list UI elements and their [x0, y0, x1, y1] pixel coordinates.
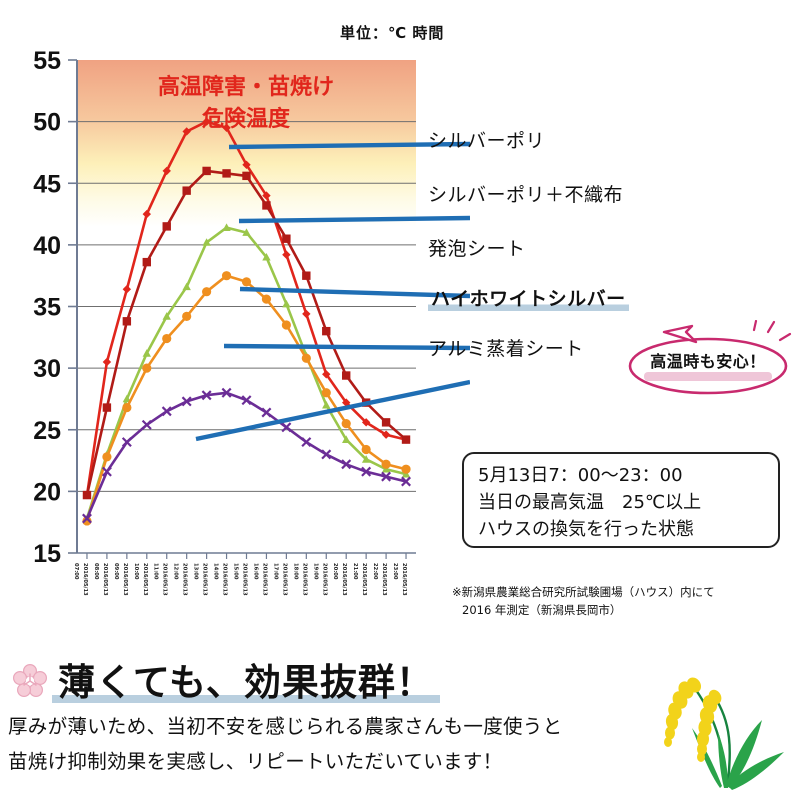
x-axis-tick-label: 2016/05/1309:00 — [113, 563, 128, 596]
x-axis-tick-label: 2016/05/1313:00 — [193, 563, 208, 596]
x-axis-tick-label: 2016/05/1320:00 — [332, 563, 347, 596]
info-line-3: ハウスの換気を行った状態 — [478, 516, 778, 543]
svg-text:14:00: 14:00 — [213, 563, 219, 580]
info-line-2: 当日の最高気温 25℃以上 — [478, 489, 778, 516]
reassurance-speech-bubble: 高温時も安心！ — [628, 330, 788, 390]
svg-text:10:00: 10:00 — [133, 563, 139, 580]
info-line-1: 5月13日7：00〜23：00 — [478, 462, 778, 489]
legend-item-silver-poly-nonwoven[interactable]: シルバーポリ＋不織布 — [428, 180, 623, 207]
x-axis-tick-label: 2016/05/1310:00 — [133, 563, 148, 596]
y-axis-tick-label: 55 — [33, 48, 61, 75]
y-axis-tick-label: 20 — [33, 478, 61, 506]
svg-text:2016/05/13: 2016/05/13 — [142, 563, 148, 596]
x-axis-ticks: 2016/05/1307:002016/05/1308:002016/05/13… — [73, 553, 407, 596]
y-axis-tick-label: 50 — [33, 109, 61, 137]
svg-text:2016/05/13: 2016/05/13 — [222, 563, 228, 596]
svg-text:23:00: 23:00 — [392, 563, 398, 580]
y-axis-tick-label: 45 — [33, 170, 61, 198]
x-axis-tick-label: 2016/05/1308:00 — [93, 563, 108, 596]
svg-text:18:00: 18:00 — [292, 563, 298, 580]
legend-label-highlighted: ハイホワイトシルバー — [428, 284, 629, 311]
speech-bubble-text: 高温時も安心！ — [628, 330, 788, 390]
x-axis-tick-label: 2016/05/1311:00 — [153, 563, 168, 596]
svg-text:2016/05/13: 2016/05/13 — [102, 563, 108, 596]
svg-text:17:00: 17:00 — [272, 563, 278, 580]
rice-plant-illustration — [648, 660, 794, 796]
leader-line-1 — [239, 218, 470, 221]
y-axis-tick-label: 15 — [33, 540, 61, 568]
svg-text:2016/05/13: 2016/05/13 — [182, 563, 188, 596]
promo-headline: 薄くても、効果抜群！ — [52, 652, 440, 706]
y-axis-labels: 555045403530252015 — [33, 48, 61, 568]
svg-text:11:00: 11:00 — [153, 563, 159, 580]
svg-text:2016/05/13: 2016/05/13 — [162, 563, 168, 596]
svg-text:2016/05/13: 2016/05/13 — [341, 563, 347, 596]
svg-text:2016/05/13: 2016/05/13 — [301, 563, 307, 596]
svg-text:2016/05/13: 2016/05/13 — [202, 563, 208, 596]
x-axis-tick-label: 2016/05/1316:00 — [252, 563, 267, 596]
legend-label: アルミ蒸着シート — [428, 334, 584, 361]
svg-text:21:00: 21:00 — [352, 563, 358, 580]
svg-text:13:00: 13:00 — [193, 563, 199, 580]
legend-item-silver-poly[interactable]: シルバーポリ — [428, 126, 545, 153]
measurement-info-box: 5月13日7：00〜23：00 当日の最高気温 25℃以上 ハウスの換気を行った… — [462, 452, 780, 548]
source-note-line1: ※新潟県農業総合研究所試験圃場（ハウス）内にて — [452, 585, 715, 599]
promo-body-line1: 厚みが薄いため、当初不安を感じられる農家さんも一度使うと — [8, 710, 562, 739]
x-axis-tick-label: 2016/05/1318:00 — [292, 563, 307, 596]
legend-item-high-white-silver[interactable]: ハイホワイトシルバー — [428, 284, 629, 311]
y-axis-tick-label: 35 — [33, 294, 61, 322]
x-axis-tick-label: 2016/05/1317:00 — [272, 563, 287, 596]
x-axis-tick-label: 2016/05/1322:00 — [372, 563, 387, 596]
legend-label: 発泡シート — [428, 234, 526, 261]
x-axis-tick-label: 2016/05/1307:00 — [73, 563, 88, 596]
leader-line-4 — [196, 382, 470, 439]
danger-band-line1: 高温障害・苗焼け — [158, 74, 334, 100]
svg-text:2016/05/13: 2016/05/13 — [281, 563, 287, 596]
svg-text:08:00: 08:00 — [93, 563, 99, 580]
bottom-promo-block: 薄くても、効果抜群！ 厚みが薄いため、当初不安を感じられる農家さんも一度使うと … — [0, 648, 800, 800]
y-axis-tick-label: 40 — [33, 232, 61, 260]
svg-text:16:00: 16:00 — [252, 563, 258, 580]
svg-text:2016/05/13: 2016/05/13 — [82, 563, 88, 596]
chart-unit-title: 単位：℃ 時間 — [340, 22, 540, 43]
legend-item-foam-sheet[interactable]: 発泡シート — [428, 234, 526, 261]
svg-text:2016/05/13: 2016/05/13 — [361, 563, 367, 596]
source-note-line2: 2016 年測定（新潟県長岡市） — [452, 601, 800, 619]
source-note: ※新潟県農業総合研究所試験圃場（ハウス）内にて 2016 年測定（新潟県長岡市） — [452, 583, 800, 619]
legend-item-alumi-sheet[interactable]: アルミ蒸着シート — [428, 334, 584, 361]
svg-text:20:00: 20:00 — [332, 563, 338, 580]
svg-text:2016/05/13: 2016/05/13 — [381, 563, 387, 596]
x-axis-tick-label: 2016/05/1321:00 — [352, 563, 367, 596]
svg-text:15:00: 15:00 — [233, 563, 239, 580]
svg-text:22:00: 22:00 — [372, 563, 378, 580]
svg-text:2016/05/13: 2016/05/13 — [242, 563, 248, 596]
svg-text:2016/05/13: 2016/05/13 — [261, 563, 267, 596]
legend-label: シルバーポリ＋不織布 — [428, 180, 623, 207]
y-axis-tick-label: 25 — [33, 417, 61, 445]
x-axis-tick-label: 2016/05/1315:00 — [233, 563, 248, 596]
promo-body-line2: 苗焼け抑制効果を実感し、リピートいただいています！ — [8, 745, 502, 774]
svg-text:09:00: 09:00 — [113, 563, 119, 580]
temperature-line-chart: 555045403530252015 高温障害・苗焼け 危険温度 2016/05… — [0, 48, 470, 638]
legend-label: シルバーポリ — [428, 126, 545, 153]
chart-svg: 555045403530252015 高温障害・苗焼け 危険温度 2016/05… — [0, 48, 470, 638]
svg-text:2016/05/13: 2016/05/13 — [401, 563, 407, 596]
x-axis-tick-label: 2016/05/1323:00 — [392, 563, 407, 596]
x-axis-tick-label: 2016/05/1314:00 — [213, 563, 228, 596]
svg-text:2016/05/13: 2016/05/13 — [321, 563, 327, 596]
svg-text:07:00: 07:00 — [73, 563, 79, 580]
x-axis-tick-label: 2016/05/1312:00 — [173, 563, 188, 596]
x-axis-tick-label: 2016/05/1319:00 — [312, 563, 327, 596]
svg-text:19:00: 19:00 — [312, 563, 318, 580]
cherry-blossom-icon — [10, 662, 50, 702]
danger-band-line2: 危険温度 — [202, 106, 291, 132]
y-axis-tick-label: 30 — [33, 355, 61, 383]
svg-text:12:00: 12:00 — [173, 563, 179, 580]
svg-text:2016/05/13: 2016/05/13 — [122, 563, 128, 596]
infographic-root: 単位：℃ 時間 555045403530252015 高 — [0, 0, 800, 800]
